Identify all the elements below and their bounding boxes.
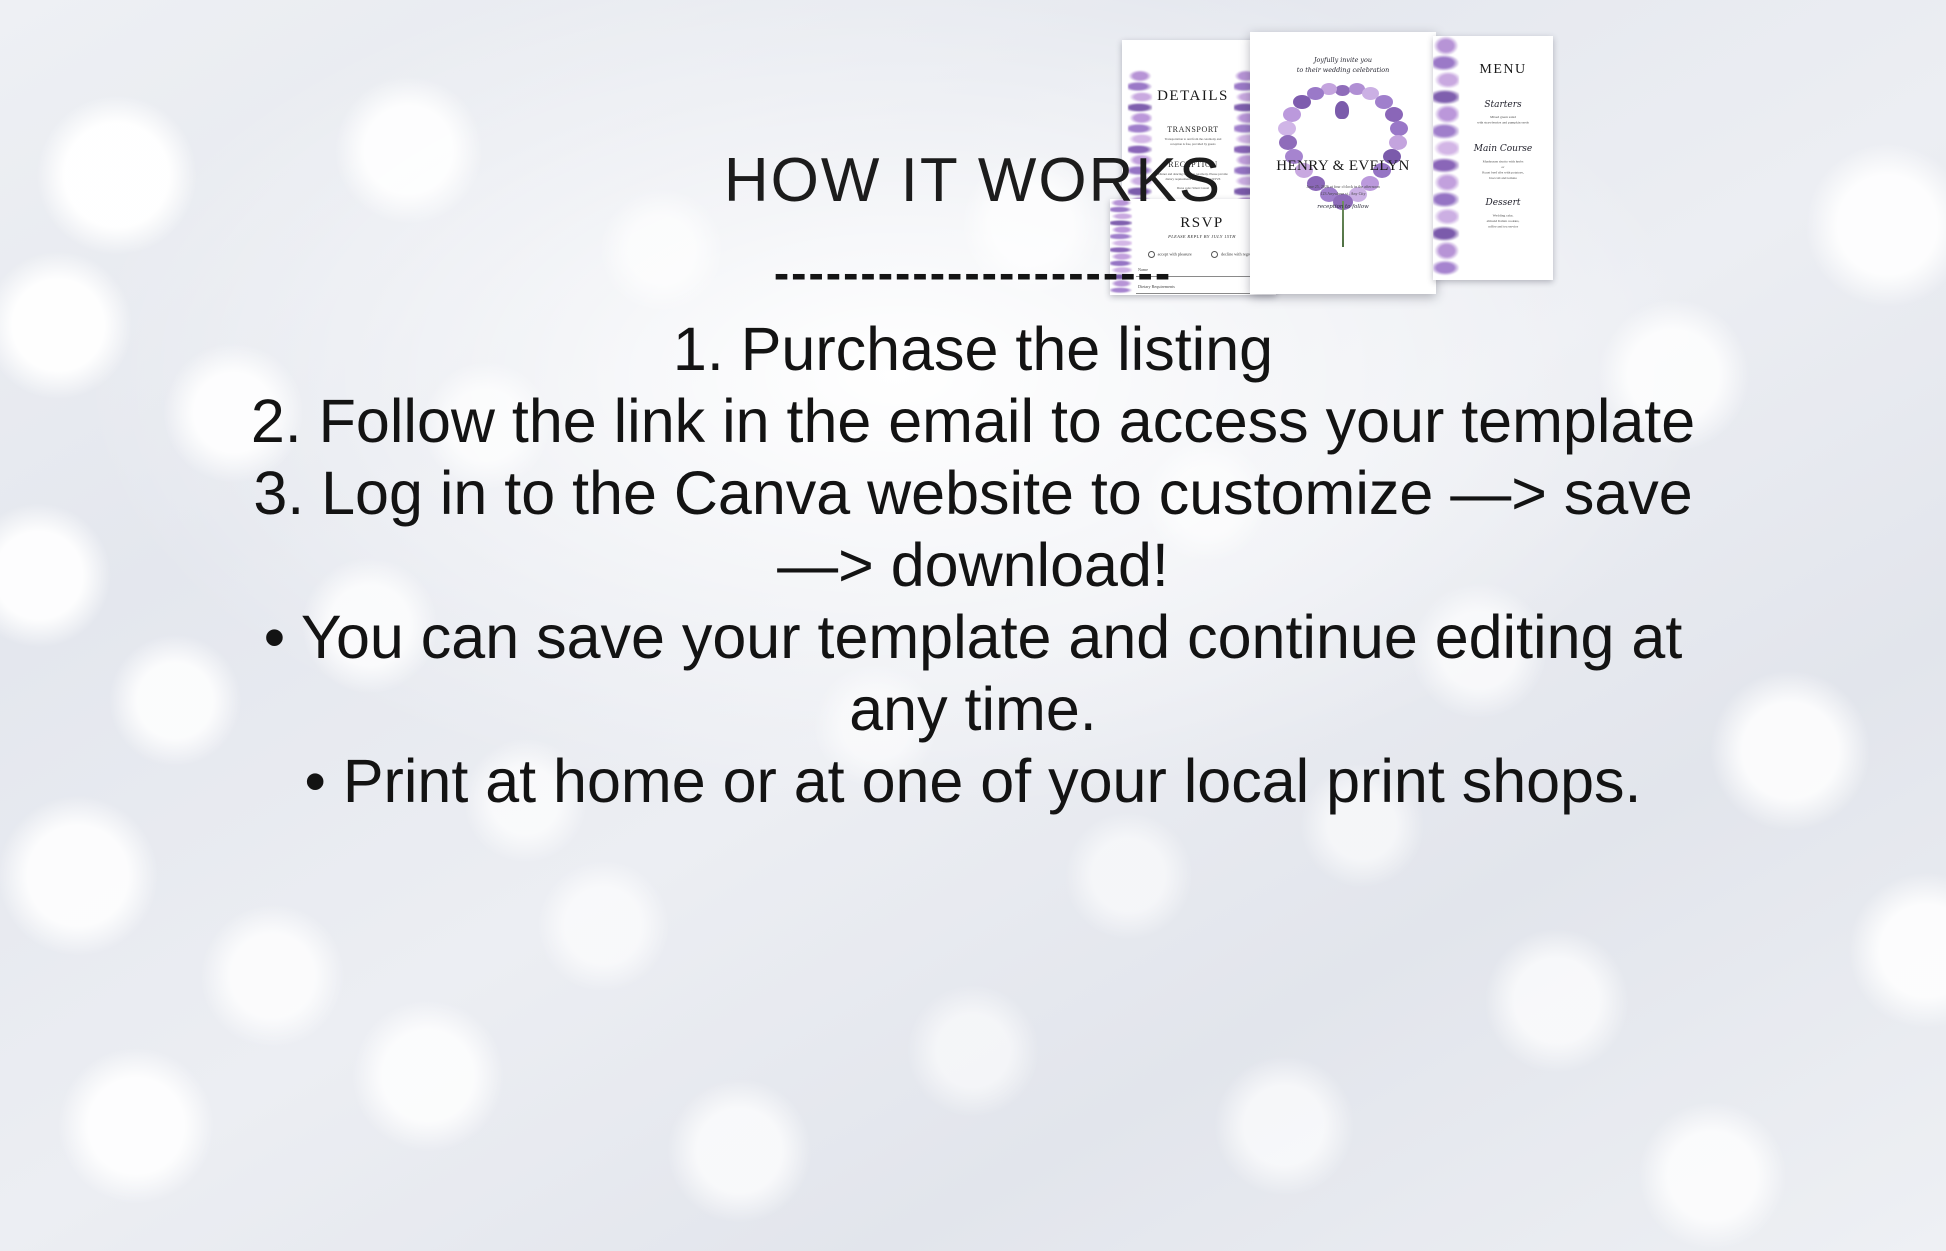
instructions-panel: HOW IT WORKS ----------------------- 1. … [0, 0, 1946, 1251]
page-title: HOW IT WORKS [724, 150, 1222, 212]
list-item: 2. Follow the link in the email to acces… [223, 386, 1723, 458]
dashed-divider: ----------------------- [774, 250, 1172, 296]
steps-list: 1. Purchase the listing 2. Follow the li… [223, 314, 1723, 818]
list-item: 1. Purchase the listing [223, 314, 1723, 386]
list-item: • You can save your template and continu… [223, 602, 1723, 746]
list-item: 3. Log in to the Canva website to custom… [223, 458, 1723, 602]
slide-canvas: DETAILS TRANSPORT Transportation to and … [0, 0, 1946, 1251]
list-item: • Print at home or at one of your local … [223, 746, 1723, 818]
